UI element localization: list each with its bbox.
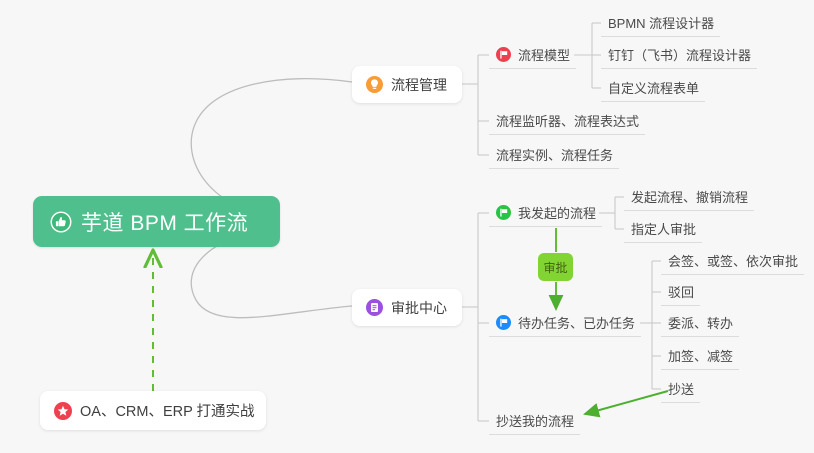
leaf-start-cancel-process[interactable]: 发起流程、撤销流程 <box>624 183 754 211</box>
root-label: 芋道 BPM 工作流 <box>81 207 248 237</box>
leaf-label-my-initiated-process: 我发起的流程 <box>518 203 596 222</box>
star-icon <box>54 402 72 420</box>
leaf-label-start-cancel-process: 发起流程、撤销流程 <box>631 187 748 206</box>
leaf-label-cc-to-me-process: 抄送我的流程 <box>496 411 574 430</box>
branch-node-approval-center[interactable]: 审批中心 <box>352 289 462 326</box>
leaf-my-initiated-process[interactable]: 我发起的流程 <box>489 199 602 227</box>
leaf-countersign-approval[interactable]: 会签、或签、依次审批 <box>661 247 804 275</box>
leaf-label-assignee-approval: 指定人审批 <box>631 219 696 238</box>
leaf-label-countersign-approval: 会签、或签、依次审批 <box>668 251 798 270</box>
leaf-custom-process-form[interactable]: 自定义流程表单 <box>601 74 705 102</box>
approval-badge-label: 审批 <box>543 259 567 276</box>
leaf-process-instance-task[interactable]: 流程实例、流程任务 <box>489 141 619 169</box>
branch-label-process-management: 流程管理 <box>391 75 447 95</box>
leaf-label-custom-process-form: 自定义流程表单 <box>608 78 699 97</box>
leaf-dingtalk-feishu-designer[interactable]: 钉钉（飞书）流程设计器 <box>601 41 757 69</box>
leaf-cc-to-me-process[interactable]: 抄送我的流程 <box>489 407 580 435</box>
leaf-label-reject: 驳回 <box>668 282 694 301</box>
approval-badge[interactable]: 审批 <box>538 253 573 281</box>
leaf-process-listener-expression[interactable]: 流程监听器、流程表达式 <box>489 107 645 135</box>
leaf-label-process-listener-expression: 流程监听器、流程表达式 <box>496 111 639 130</box>
leaf-label-todo-done-tasks: 待办任务、已办任务 <box>518 313 635 332</box>
leaf-process-model[interactable]: 流程模型 <box>489 41 576 69</box>
leaf-todo-done-tasks[interactable]: 待办任务、已办任务 <box>489 309 641 337</box>
leaf-label-dingtalk-feishu-designer: 钉钉（飞书）流程设计器 <box>608 45 751 64</box>
clipboard-icon <box>366 299 383 316</box>
leaf-label-process-model: 流程模型 <box>518 45 570 64</box>
thumbs-up-icon <box>50 211 72 233</box>
leaf-label-process-instance-task: 流程实例、流程任务 <box>496 145 613 164</box>
lightbulb-icon <box>366 76 383 93</box>
leaf-reject[interactable]: 驳回 <box>661 278 700 306</box>
mindmap-canvas: 芋道 BPM 工作流 流程管理 审批中心 <box>0 0 814 453</box>
flag-icon <box>496 315 511 330</box>
leaf-add-remove-sign[interactable]: 加签、减签 <box>661 342 739 370</box>
branch-label-approval-center: 审批中心 <box>391 298 447 318</box>
flag-icon <box>496 205 511 220</box>
leaf-label-add-remove-sign: 加签、减签 <box>668 346 733 365</box>
leaf-label-carbon-copy: 抄送 <box>668 379 694 398</box>
leaf-label-delegate-transfer: 委派、转办 <box>668 313 733 332</box>
root-node[interactable]: 芋道 BPM 工作流 <box>33 196 280 247</box>
leaf-delegate-transfer[interactable]: 委派、转办 <box>661 309 739 337</box>
integration-callout-label: OA、CRM、ERP 打通实战 <box>80 400 255 421</box>
flag-icon <box>496 47 511 62</box>
leaf-carbon-copy[interactable]: 抄送 <box>661 375 700 403</box>
leaf-label-bpmn-designer: BPMN 流程设计器 <box>608 13 714 32</box>
branch-node-process-management[interactable]: 流程管理 <box>352 66 462 103</box>
leaf-assignee-approval[interactable]: 指定人审批 <box>624 215 702 243</box>
leaf-bpmn-designer[interactable]: BPMN 流程设计器 <box>601 9 720 37</box>
integration-callout-node[interactable]: OA、CRM、ERP 打通实战 <box>40 391 266 430</box>
